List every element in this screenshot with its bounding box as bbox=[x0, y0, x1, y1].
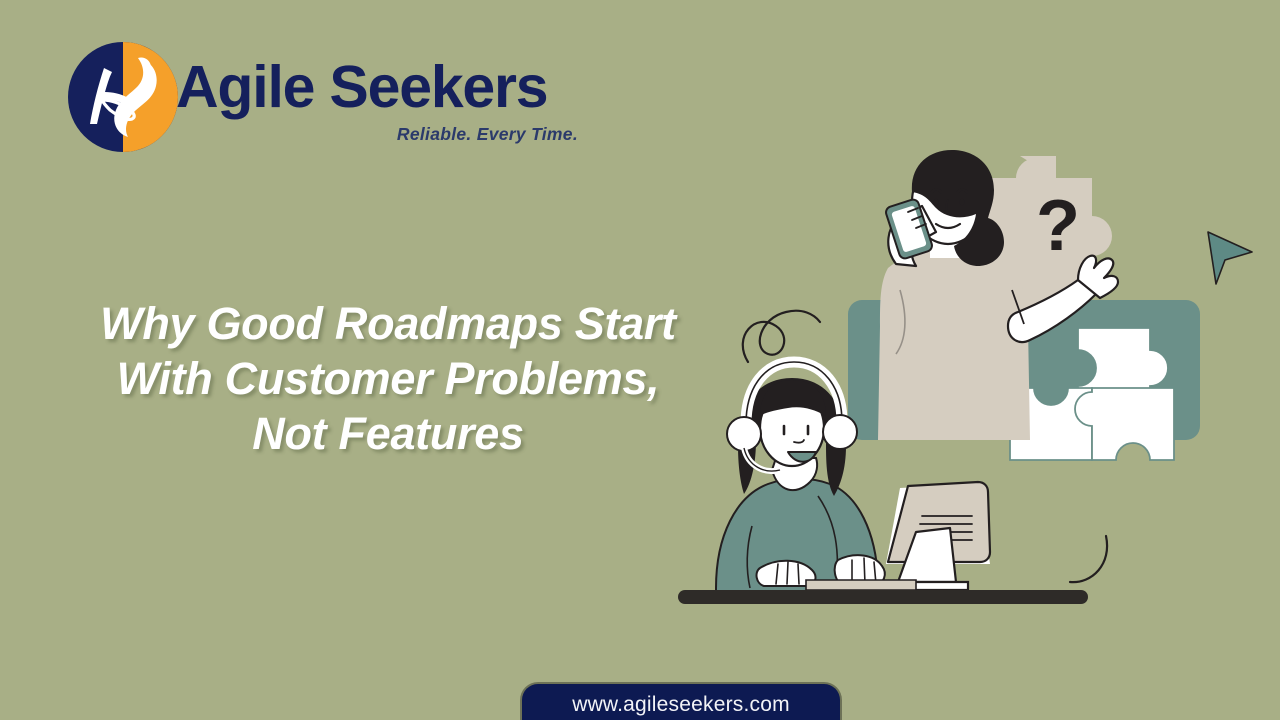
website-url-text: www.agileseekers.com bbox=[522, 693, 840, 717]
brand-wordmark: Agile Seekers bbox=[176, 58, 547, 117]
poster-canvas: Agile Seekers Reliable. Every Time. Why … bbox=[0, 0, 1280, 720]
brand-logo[interactable]: Agile Seekers Reliable. Every Time. bbox=[68, 40, 528, 155]
website-url-pill[interactable]: www.agileseekers.com bbox=[522, 684, 840, 720]
desk-bar bbox=[678, 590, 1088, 604]
squiggle-decoration bbox=[743, 311, 820, 362]
headline-line-2: With Customer Problems, bbox=[36, 351, 740, 406]
customer-support-puzzle-illustration: ? bbox=[660, 140, 1280, 620]
headline-line-1: Why Good Roadmaps Start bbox=[36, 296, 740, 351]
headline-line-3: Not Features bbox=[36, 406, 740, 461]
page-title: Why Good Roadmaps Start With Customer Pr… bbox=[36, 296, 740, 461]
brand-tagline: Reliable. Every Time. bbox=[356, 124, 578, 145]
agile-seekers-logo-mark bbox=[68, 42, 178, 152]
question-mark-glyph: ? bbox=[1036, 186, 1080, 266]
arc-decoration bbox=[1070, 536, 1107, 582]
cursor-arrow-icon bbox=[1208, 232, 1252, 284]
